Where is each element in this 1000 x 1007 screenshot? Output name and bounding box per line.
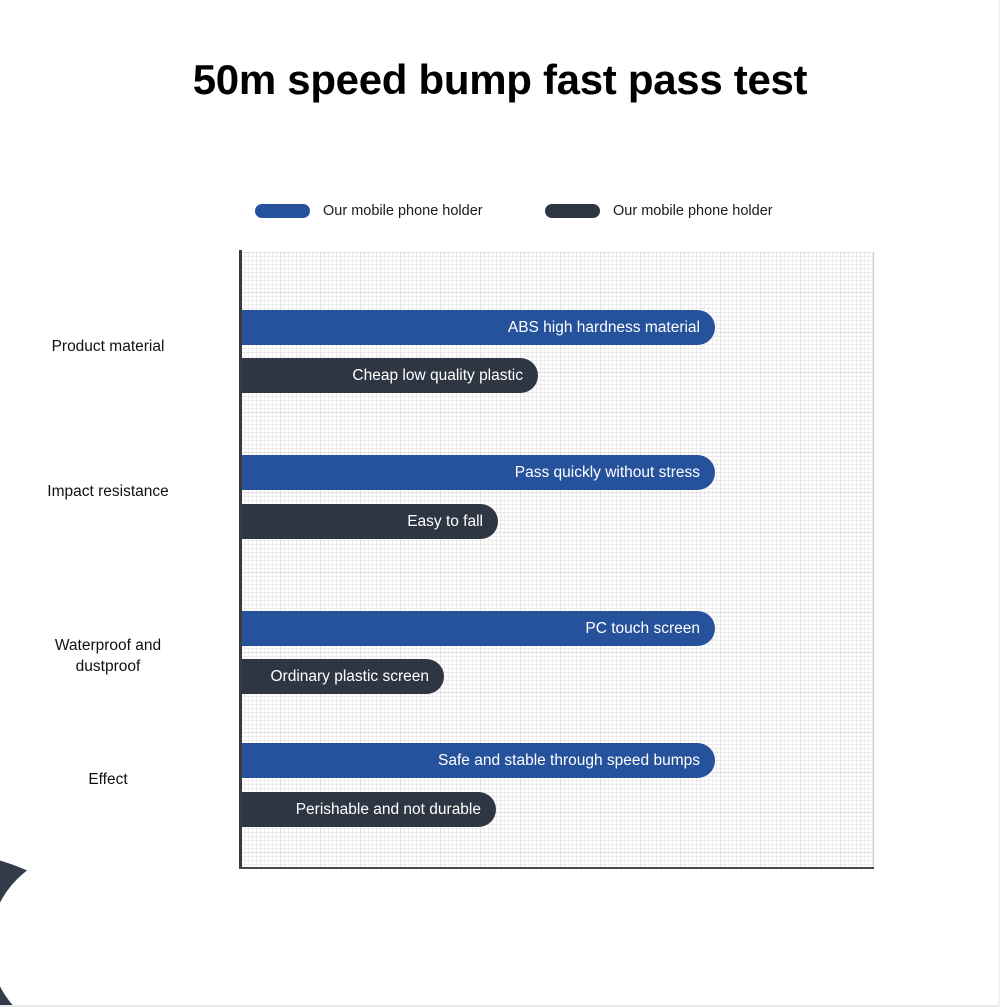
legend-item-ours: Our mobile phone holder bbox=[255, 198, 483, 224]
axis-x-line bbox=[239, 867, 874, 869]
legend-label-ours: Our mobile phone holder bbox=[323, 203, 483, 219]
bar-waterproof-dustproof-other: Ordinary plastic screen bbox=[240, 659, 444, 694]
category-label-line-1: Waterproof and bbox=[0, 635, 218, 656]
bar-impact-resistance-other: Easy to fall bbox=[240, 504, 498, 539]
category-label-impact-resistance: Impact resistance bbox=[0, 481, 218, 502]
category-label-effect: Effect bbox=[0, 769, 218, 790]
legend-swatch-blue bbox=[255, 204, 310, 218]
corner-decoration-cutout bbox=[0, 852, 175, 1007]
bar-impact-resistance-ours: Pass quickly without stress bbox=[240, 455, 715, 490]
bar-waterproof-dustproof-ours: PC touch screen bbox=[240, 611, 715, 646]
category-label-product-material: Product material bbox=[0, 336, 218, 357]
axis-right-border bbox=[873, 252, 874, 868]
axis-y-line bbox=[239, 250, 242, 869]
category-label-waterproof-dustproof: Waterproof and dustproof bbox=[0, 635, 218, 677]
legend-label-other: Our mobile phone holder bbox=[613, 203, 773, 219]
legend-swatch-dark bbox=[545, 204, 600, 218]
bar-product-material-other: Cheap low quality plastic bbox=[240, 358, 538, 393]
bar-effect-ours: Safe and stable through speed bumps bbox=[240, 743, 715, 778]
bar-product-material-ours: ABS high hardness material bbox=[240, 310, 715, 345]
infographic-page: 50m speed bump fast pass test Our mobile… bbox=[0, 0, 1000, 1007]
chart-legend: Our mobile phone holder Our mobile phone… bbox=[255, 198, 875, 224]
plot-area: ABS high hardness material Cheap low qua… bbox=[240, 252, 874, 868]
bar-effect-other: Perishable and not durable bbox=[240, 792, 496, 827]
category-label-line-2: dustproof bbox=[0, 656, 218, 677]
legend-item-other: Our mobile phone holder bbox=[545, 198, 773, 224]
page-title: 50m speed bump fast pass test bbox=[0, 56, 1000, 104]
